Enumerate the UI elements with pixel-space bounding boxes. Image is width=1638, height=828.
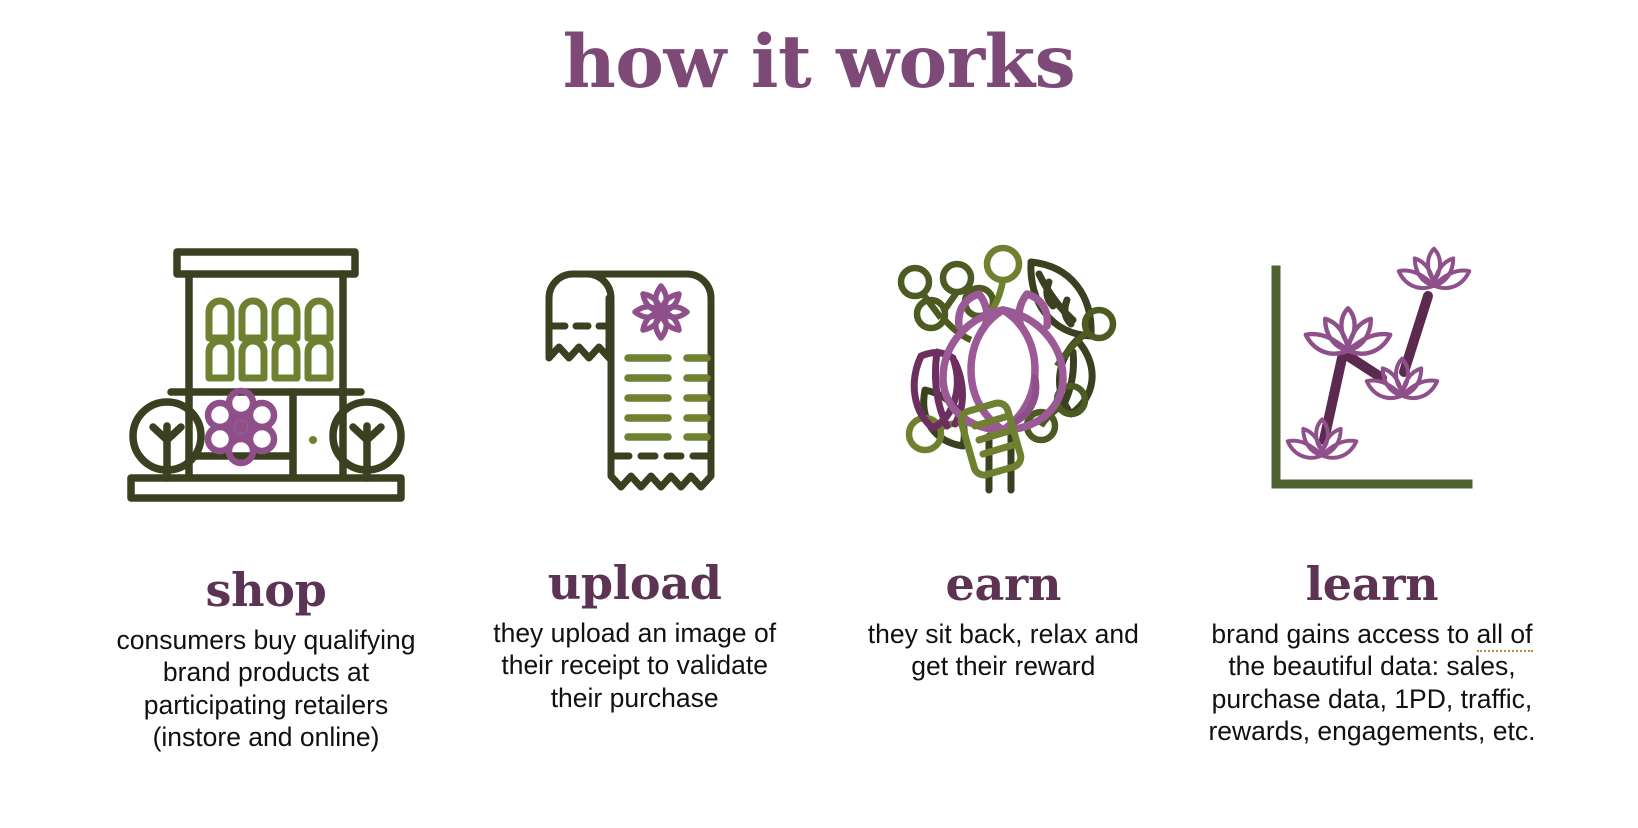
- step-description-earn: they sit back, relax and get their rewar…: [853, 618, 1153, 683]
- step-heading-learn: learn: [1306, 561, 1439, 607]
- step-learn: learn brand gains access to all of the b…: [1202, 240, 1542, 747]
- step-heading-earn: earn: [946, 561, 1062, 607]
- how-it-works-slide: how it works: [0, 0, 1638, 828]
- steps-row: shop consumers buy qualifying brand prod…: [96, 240, 1542, 753]
- step-earn: earn they sit back, relax and get their …: [833, 240, 1173, 683]
- learn-description-part1: brand gains access to: [1211, 619, 1476, 649]
- flower-chart-icon: [1262, 240, 1482, 510]
- page-title: how it works: [0, 24, 1638, 101]
- step-upload: upload they upload an image of their rec…: [465, 240, 805, 714]
- step-heading-upload: upload: [548, 560, 722, 606]
- step-shop: shop consumers buy qualifying brand prod…: [96, 240, 436, 753]
- step-description-learn: brand gains access to all of the beautif…: [1199, 618, 1544, 747]
- receipt-icon: [535, 240, 735, 510]
- step-heading-shop: shop: [206, 567, 327, 613]
- bouquet-icon: [863, 240, 1143, 510]
- learn-description-part2: the beautiful data: sales, purchase data…: [1208, 651, 1535, 746]
- storefront-icon: [121, 240, 411, 510]
- step-description-shop: consumers buy qualifying brand products …: [101, 624, 431, 753]
- step-description-upload: they upload an image of their receipt to…: [480, 617, 790, 714]
- grammar-suggestion-all-of[interactable]: all of: [1477, 619, 1533, 652]
